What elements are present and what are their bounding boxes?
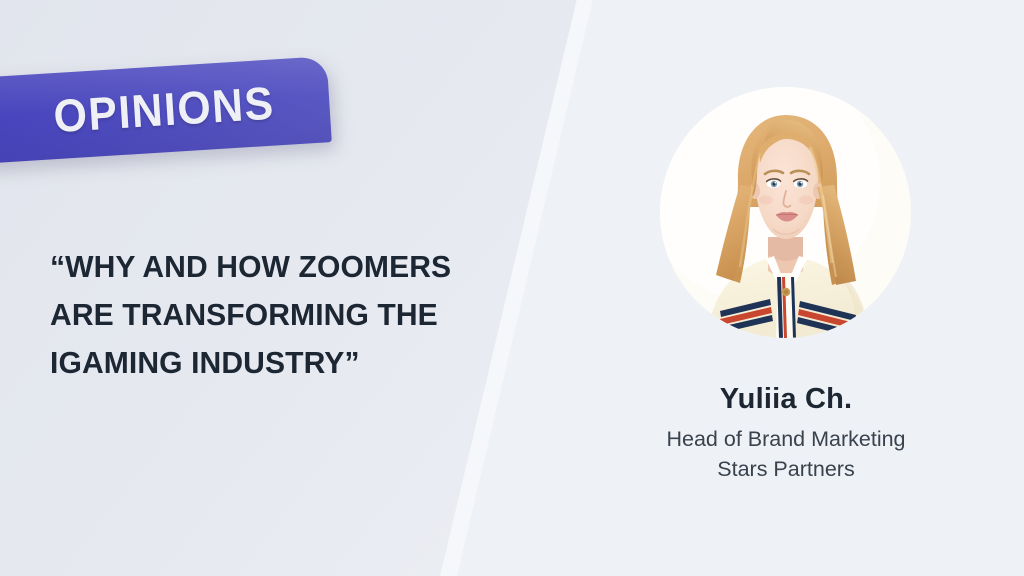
headline-line-2: ARE TRANSFORMING THE [50, 291, 467, 339]
portrait-illustration [660, 87, 911, 338]
person-role: Head of Brand Marketing [600, 424, 972, 454]
person-name: Yuliia Ch. [600, 380, 972, 418]
headline-line-1: “WHY AND HOW ZOOMERS [50, 243, 467, 291]
portrait-caption: Yuliia Ch. Head of Brand Marketing Stars… [600, 380, 972, 484]
portrait-avatar [660, 87, 911, 338]
headline-line-3: IGAMING INDUSTRY” [50, 339, 467, 387]
badge-label: OPINIONS [52, 80, 276, 140]
headline: “WHY AND HOW ZOOMERS ARE TRANSFORMING TH… [50, 243, 467, 387]
person-company: Stars Partners [600, 454, 972, 484]
opinions-badge: OPINIONS [0, 56, 338, 170]
opinions-slide: OPINIONS “WHY AND HOW ZOOMERS ARE TRANSF… [0, 0, 1024, 576]
